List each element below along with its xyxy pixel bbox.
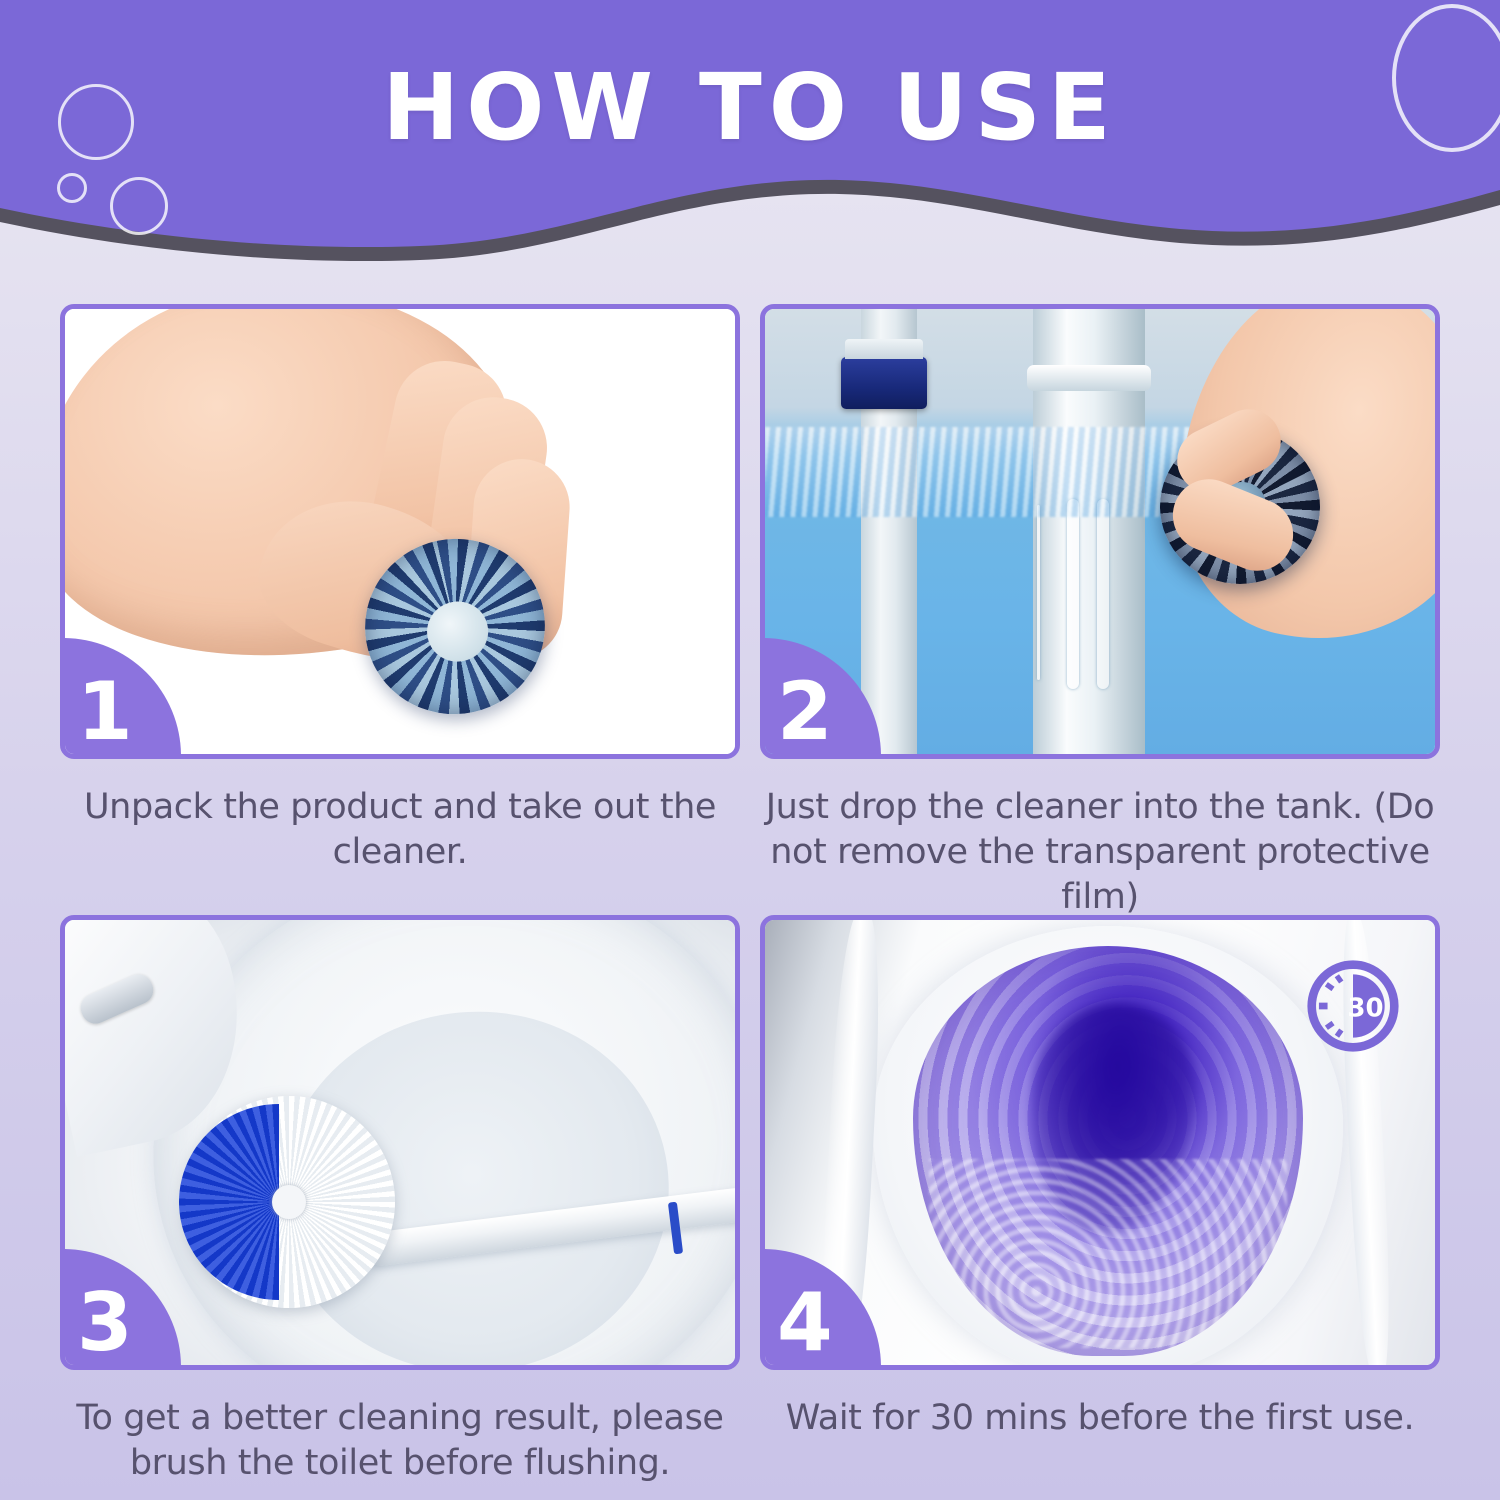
step-4-number: 4 [777,1283,833,1363]
tube-slot-shape [1037,505,1040,680]
purple-water-shape [913,946,1303,1356]
step-3-number: 3 [77,1283,133,1363]
step-3-caption: To get a better cleaning result, please … [60,1396,740,1486]
bubble-small-left-icon [57,173,87,203]
tank-tube-ring-shape [1027,365,1151,391]
step-card-2: 2 Just drop the cleaner into the tank. (… [760,304,1460,919]
timer-badge-value: 30 [1347,994,1383,1024]
step-card-1: 1 Unpack the product and take out the cl… [60,304,760,875]
toilet-brush-cleaning-image [65,920,735,1365]
step-3-photo-frame: 3 [60,915,740,1370]
steps-grid: 1 Unpack the product and take out the cl… [0,300,1500,1500]
tube-slot-shape [1067,499,1079,689]
step-card-4: 30 4 Wait for 30 mins before the first u… [760,915,1460,1441]
infographic-page: HOW TO USE 1 Unpack the product and take… [0,0,1500,1500]
tube-slot-shape [1097,499,1109,689]
step-4-caption: Wait for 30 mins before the first use. [760,1396,1440,1441]
brush-bristles-shape [183,1096,395,1308]
step-1-photo-frame: 1 [60,304,740,759]
page-title: HOW TO USE [0,62,1500,154]
step-2-photo-frame: 2 [760,304,1440,759]
timer-30-min-icon: 30 [1305,958,1401,1054]
step-2-number: 2 [777,672,833,752]
step-1-number: 1 [77,672,133,752]
header-banner: HOW TO USE [0,0,1500,300]
bubble-medium-left-icon [110,177,168,235]
step-4-photo-frame: 30 4 [760,915,1440,1370]
hand-holding-cleaner-tablet-image [65,309,735,754]
step-1-caption: Unpack the product and take out the clea… [60,785,740,875]
water-foam-shape [929,1159,1288,1348]
step-card-3: 3 To get a better cleaning result, pleas… [60,915,760,1486]
tank-blue-cap-shape [841,357,927,409]
toilet-tank-drop-image [765,309,1435,754]
step-2-caption: Just drop the cleaner into the tank. (Do… [760,785,1440,919]
